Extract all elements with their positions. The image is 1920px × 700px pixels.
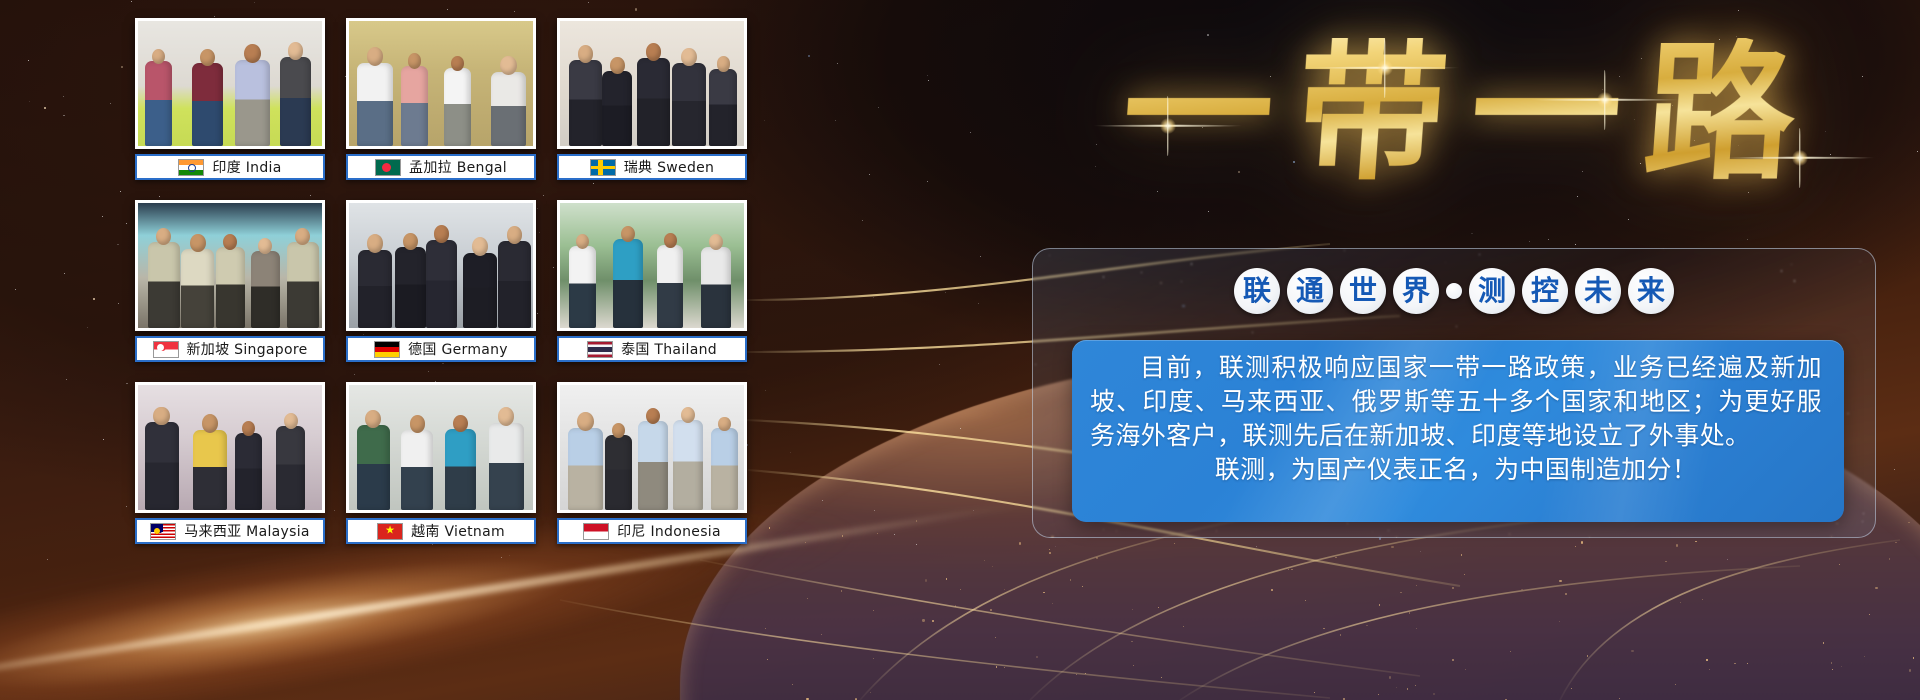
photo-person-head (577, 412, 594, 431)
gallery-cell[interactable]: 越南 Vietnam (346, 382, 536, 549)
banner-stage: 印度 India孟加拉 Bengal瑞典 Sweden新加坡 Singapore… (0, 0, 1920, 700)
photo-image (560, 21, 744, 146)
country-label-plate[interactable]: 印度 India (135, 154, 325, 180)
photo-person-head (472, 237, 488, 256)
photo-person-head (190, 234, 206, 252)
photo-person (463, 253, 497, 328)
country-photo[interactable] (557, 200, 747, 331)
photo-people (138, 203, 322, 328)
bangladesh-flag (375, 159, 401, 176)
slogan-char-badge-7: 未 (1575, 268, 1621, 314)
photo-image (138, 21, 322, 146)
photo-image (138, 203, 322, 328)
country-photo[interactable] (135, 382, 325, 513)
country-photo[interactable] (346, 382, 536, 513)
photo-person (709, 69, 737, 146)
photo-person (602, 71, 632, 146)
gallery-cell[interactable]: 印度 India (135, 18, 325, 185)
singapore-flag (153, 341, 179, 358)
country-label-text: 越南 Vietnam (411, 521, 505, 541)
sweden-flag (590, 159, 616, 176)
description-panel: 目前，联测积极响应国家一带一路政策，业务已经遍及新加坡、印度、马来西亚、俄罗斯等… (1072, 340, 1844, 522)
photo-person-head (664, 233, 677, 248)
country-photo-grid: 印度 India孟加拉 Bengal瑞典 Sweden新加坡 Singapore… (135, 18, 747, 563)
country-label-plate[interactable]: 新加坡 Singapore (135, 336, 325, 362)
photo-people (138, 21, 322, 146)
photo-person (568, 428, 603, 510)
country-label-plate[interactable]: 泰国 Thailand (557, 336, 747, 362)
photo-people (560, 21, 744, 146)
photo-person (569, 246, 597, 328)
photo-person (276, 426, 305, 510)
slogan-char-badge-3: 界 (1393, 268, 1439, 314)
vietnam-flag (377, 523, 403, 540)
photo-person (657, 245, 684, 328)
photo-person (287, 242, 319, 328)
photo-person (711, 428, 738, 510)
photo-person-head (152, 49, 165, 64)
photo-person (489, 423, 524, 510)
photo-person-head (717, 56, 731, 72)
country-photo[interactable] (135, 18, 325, 149)
photo-person (701, 247, 731, 328)
country-label-text: 德国 Germany (408, 339, 508, 359)
country-label-text: 泰国 Thailand (621, 339, 717, 359)
photo-person-head (408, 53, 421, 68)
photo-person-head (621, 226, 635, 242)
thailand-flag (587, 341, 613, 358)
photo-person (638, 421, 668, 510)
description-paragraph-2: 联测，为国产仪表正名，为中国制造加分！ (1090, 453, 1822, 487)
description-text: 目前，联测积极响应国家一带一路政策，业务已经遍及新加坡、印度、马来西亚、俄罗斯等… (1090, 351, 1822, 487)
photo-person-head (646, 43, 662, 61)
photo-person (251, 251, 280, 328)
photo-person (145, 61, 173, 146)
photo-person-head (200, 49, 215, 66)
photo-person (491, 72, 526, 146)
photo-person-head (244, 44, 261, 63)
photo-person (148, 242, 180, 328)
country-label-text: 孟加拉 Bengal (409, 157, 507, 177)
photo-person (637, 58, 670, 146)
india-flag (178, 159, 204, 176)
malaysia-flag (150, 523, 176, 540)
photo-person-head (612, 423, 625, 438)
photo-person (280, 57, 311, 147)
country-label-text: 新加坡 Singapore (187, 339, 308, 359)
slogan-char-badge-8: 来 (1628, 268, 1674, 314)
photo-person-head (610, 57, 625, 74)
photo-person (357, 63, 392, 146)
country-label-text: 印度 India (212, 157, 281, 177)
photo-person-head (453, 415, 468, 432)
photo-person-head (367, 234, 383, 253)
gallery-cell[interactable]: 瑞典 Sweden (557, 18, 747, 185)
photo-person (401, 430, 433, 510)
photo-person (673, 420, 703, 510)
country-photo[interactable] (135, 200, 325, 331)
photo-people (560, 385, 744, 510)
country-label-text: 瑞典 Sweden (624, 157, 714, 177)
photo-person-head (681, 48, 697, 66)
country-label-plate[interactable]: 印尼 Indonesia (557, 518, 747, 544)
photo-people (349, 21, 533, 146)
photo-person (426, 240, 458, 329)
photo-person (235, 60, 270, 146)
photo-image (349, 203, 533, 328)
photo-image (349, 21, 533, 146)
country-photo[interactable] (346, 200, 536, 331)
photo-people (560, 203, 744, 328)
photo-image (138, 385, 322, 510)
photo-person-head (153, 407, 169, 426)
gallery-cell[interactable]: 泰国 Thailand (557, 200, 747, 367)
photo-person-head (403, 233, 418, 250)
photo-people (349, 385, 533, 510)
photo-person (401, 66, 429, 146)
photo-people (138, 385, 322, 510)
photo-person-head (507, 226, 523, 244)
gallery-cell[interactable]: 印尼 Indonesia (557, 382, 747, 549)
photo-person (613, 239, 643, 328)
country-label-plate[interactable]: 越南 Vietnam (346, 518, 536, 544)
photo-person (192, 63, 223, 146)
photo-person (181, 249, 214, 328)
slogan-separator-dot (1446, 283, 1462, 299)
photo-person (358, 250, 392, 328)
photo-person (444, 68, 471, 147)
indonesia-flag (583, 523, 609, 540)
description-paragraph-1: 目前，联测积极响应国家一带一路政策，业务已经遍及新加坡、印度、马来西亚、俄罗斯等… (1090, 351, 1822, 453)
gallery-cell[interactable]: 孟加拉 Bengal (346, 18, 536, 185)
slogan-char-badge-0: 联 (1234, 268, 1280, 314)
photo-person-head (242, 421, 255, 436)
photo-image (560, 385, 744, 510)
photo-person (235, 433, 262, 510)
gallery-cell[interactable]: 马来西亚 Malaysia (135, 382, 325, 549)
country-photo[interactable] (346, 18, 536, 149)
photo-person (357, 425, 390, 510)
gallery-cell[interactable]: 德国 Germany (346, 200, 536, 367)
country-photo[interactable] (557, 18, 747, 149)
photo-people (349, 203, 533, 328)
photo-person-head (451, 56, 464, 71)
calligraphy-text: 一带一路 (1096, 38, 1825, 188)
slogan-char-badge-5: 测 (1469, 268, 1515, 314)
photo-person-head (410, 415, 426, 433)
photo-person (216, 247, 246, 328)
photo-person (145, 422, 179, 510)
slogan-char-badge-2: 世 (1340, 268, 1386, 314)
photo-person (672, 63, 705, 146)
slogan-char-badge-1: 通 (1287, 268, 1333, 314)
photo-person (193, 430, 227, 510)
germany-flag (374, 341, 400, 358)
photo-person-head (576, 234, 589, 249)
photo-person-head (500, 56, 517, 75)
photo-image (560, 203, 744, 328)
country-photo[interactable] (557, 382, 747, 513)
photo-person (498, 241, 531, 328)
photo-person (569, 60, 602, 146)
photo-person (605, 435, 632, 510)
photo-image (349, 385, 533, 510)
country-label-text: 印尼 Indonesia (617, 521, 721, 541)
photo-person-head (284, 413, 298, 429)
photo-person-head (202, 414, 218, 433)
country-label-plate[interactable]: 瑞典 Sweden (557, 154, 747, 180)
country-label-plate[interactable]: 马来西亚 Malaysia (135, 518, 325, 544)
country-label-text: 马来西亚 Malaysia (184, 521, 310, 541)
photo-person-head (434, 225, 449, 242)
slogan-char-badge-6: 控 (1522, 268, 1568, 314)
photo-person-head (288, 42, 303, 59)
gallery-cell[interactable]: 新加坡 Singapore (135, 200, 325, 367)
country-label-plate[interactable]: 德国 Germany (346, 336, 536, 362)
photo-person (395, 247, 426, 328)
belt-and-road-title: 一带一路 (1040, 8, 1880, 218)
photo-person (445, 429, 476, 510)
slogan-headline: 联通世界测控未来 (1032, 260, 1876, 322)
country-label-plate[interactable]: 孟加拉 Bengal (346, 154, 536, 180)
